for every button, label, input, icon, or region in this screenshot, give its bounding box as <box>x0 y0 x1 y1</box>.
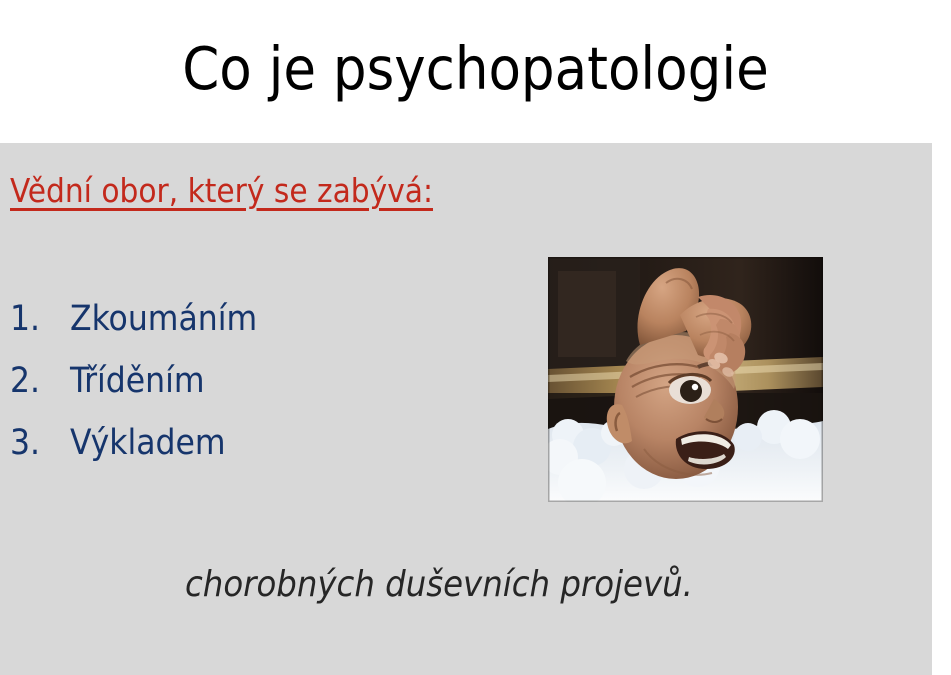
list-item-label: Výkladem <box>70 420 226 466</box>
closing-text: chorobných duševních projevů. <box>185 562 693 608</box>
slide: Co je psychopatologie Vědní obor, který … <box>0 0 951 675</box>
list-item-marker: 3. <box>10 420 70 466</box>
slide-photo <box>548 257 823 502</box>
list-item-label: Tříděním <box>70 358 205 404</box>
list-item: 2. Tříděním <box>10 358 257 420</box>
list-item: 3. Výkladem <box>10 420 257 482</box>
list-item: 1. Zkoumáním <box>10 296 257 358</box>
photo-illustration <box>548 257 823 502</box>
numbered-list: 1. Zkoumáním 2. Tříděním 3. Výkladem <box>10 296 257 482</box>
list-item-label: Zkoumáním <box>70 296 257 342</box>
list-item-marker: 1. <box>10 296 70 342</box>
title-band: Co je psychopatologie <box>0 0 951 143</box>
list-item-marker: 2. <box>10 358 70 404</box>
section-heading: Vědní obor, který se zabývá: <box>10 170 433 212</box>
page-title: Co je psychopatologie <box>0 33 951 105</box>
